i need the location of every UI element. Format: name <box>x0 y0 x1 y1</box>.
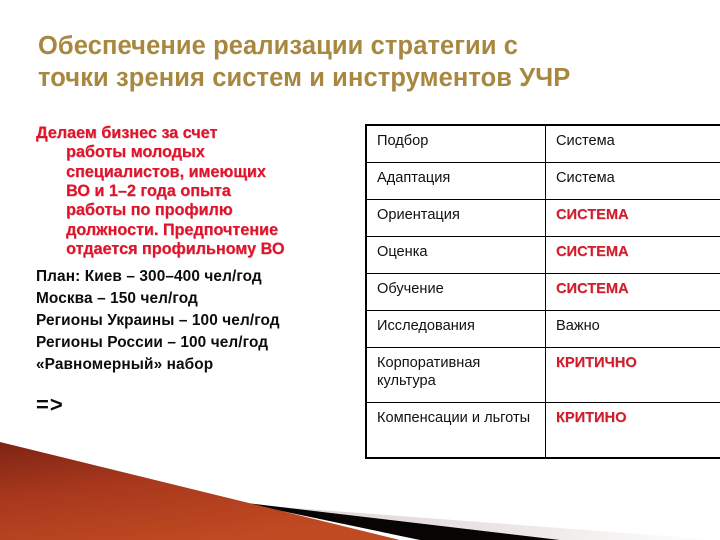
plan-item: «Равномерный» набор <box>36 354 348 376</box>
status-badge: КРИТИНО <box>556 410 626 426</box>
hiring-plan-list: План: Киев – 300–400 чел/год Москва – 15… <box>36 260 348 377</box>
plan-item: Регионы Украины – 100 чел/год <box>36 310 348 332</box>
headline-red-paragraph: Делаем бизнес за счет работы молодых спе… <box>36 124 348 260</box>
headline-line-5: работы по профилю <box>44 201 348 220</box>
table-cell-value: Важно <box>546 311 720 348</box>
table-cell-value: КРИТИЧНО <box>546 348 720 403</box>
status-badge: СИСТЕМА <box>556 244 629 260</box>
table-cell-value: СИСТЕМА <box>546 237 720 274</box>
table-row: Ориентация СИСТЕМА <box>366 200 720 237</box>
plan-item: Москва – 150 чел/год <box>36 288 348 310</box>
hr-systems-table-body: Подбор Система Адаптация Система Ориента… <box>366 125 720 458</box>
plan-item: План: Киев – 300–400 чел/год <box>36 266 348 288</box>
status-badge: КРИТИЧНО <box>556 355 637 371</box>
table-cell-value: СИСТЕМА <box>546 274 720 311</box>
table-cell-name: Исследования <box>366 311 546 348</box>
table-cell-name: Компенсации и льготы <box>366 403 546 459</box>
table-cell-name: Оценка <box>366 237 546 274</box>
table-row: Оценка СИСТЕМА <box>366 237 720 274</box>
table-cell-name: Адаптация <box>366 163 546 200</box>
plan-item: Регионы России – 100 чел/год <box>36 332 348 354</box>
headline-line-6: должности. Предпочтение <box>44 221 348 240</box>
slide-canvas: Обеспечение реализации стратегии с точки… <box>0 0 720 540</box>
table-cell-value: Система <box>546 163 720 200</box>
table-row: Обучение СИСТЕМА <box>366 274 720 311</box>
table-cell-value: Система <box>546 125 720 163</box>
headline-line-2: работы молодых <box>44 143 348 162</box>
table-cell-value: СИСТЕМА <box>546 200 720 237</box>
headline-line-4: ВО и 1–2 года опыта <box>44 182 348 201</box>
left-content-column: Делаем бизнес за счет работы молодых спе… <box>36 124 348 418</box>
table-cell-name: Ориентация <box>366 200 546 237</box>
page-title-line-2: точки зрения систем и инструментов УЧР <box>38 64 570 92</box>
table-row: Подбор Система <box>366 125 720 163</box>
table-row: Компенсации и льготы КРИТИНО <box>366 403 720 459</box>
table-row: Корпоративная культура КРИТИЧНО <box>366 348 720 403</box>
table-cell-value: КРИТИНО <box>546 403 720 459</box>
page-title-line-1: Обеспечение реализации стратегии с <box>38 32 518 60</box>
table-row: Адаптация Система <box>366 163 720 200</box>
hr-systems-table: Подбор Система Адаптация Система Ориента… <box>365 124 720 459</box>
headline-line-1: Делаем бизнес за счет <box>44 124 348 143</box>
headline-line-7: отдается профильному ВО <box>44 240 348 259</box>
table-row: Исследования Важно <box>366 311 720 348</box>
table-cell-name: Корпоративная культура <box>366 348 546 403</box>
headline-line-3: специалистов, имеющих <box>44 163 348 182</box>
page-title: Обеспечение реализации стратегии с точки… <box>38 30 668 95</box>
status-badge: СИСТЕМА <box>556 281 629 297</box>
table-cell-name: Подбор <box>366 125 546 163</box>
status-badge: СИСТЕМА <box>556 207 629 223</box>
arrow-symbol: => <box>36 392 348 418</box>
table-cell-name: Обучение <box>366 274 546 311</box>
